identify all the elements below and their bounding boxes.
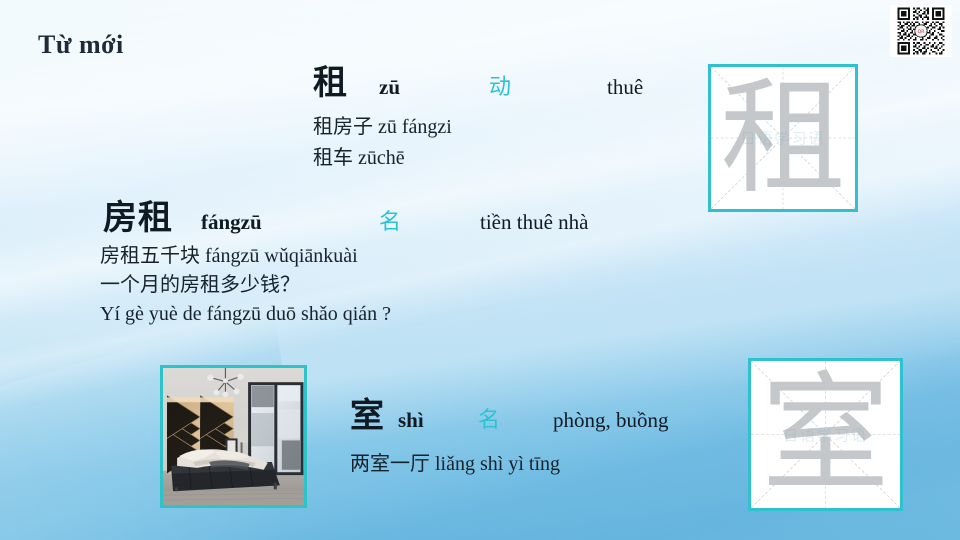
character-practice-grid-zu: 租 日语学习语: [708, 64, 858, 212]
gloss-zu: thuê: [607, 75, 643, 100]
examples-zu: 租房子 zū fángzi 租车 zūchē: [313, 112, 452, 174]
slide-canvas: Từ mới: [0, 0, 960, 540]
headword-pinyin-shi: shì: [398, 408, 478, 433]
examples-fangzu: 房租五千块 fángzū wǔqiānkuài 一个月的房租多少钱？ Yí gè…: [100, 242, 391, 329]
headword-hanzi-fangzu: 房租: [103, 190, 201, 239]
example-line: 一个月的房租多少钱？: [100, 271, 391, 300]
example-line: 租房子 zū fángzi: [313, 112, 452, 143]
grid-watermark: 日语学习语: [751, 424, 900, 445]
page-title: Từ mới: [38, 30, 124, 60]
headword-pinyin-zu: zū: [379, 75, 489, 100]
headword-hanzi-zu: 租: [313, 55, 379, 104]
part-of-speech-zu: 动: [489, 69, 607, 101]
vocab-entry-zu: 租 zū 动 thuê: [313, 55, 643, 104]
character-practice-grid-shi: 室 日语学习语: [748, 358, 903, 511]
examples-shi: 两室一厅 liǎng shì yì tīng: [350, 447, 560, 476]
gloss-shi: phòng, buồng: [553, 408, 669, 433]
part-of-speech-fangzu: 名: [379, 204, 480, 236]
part-of-speech-shi: 名: [478, 402, 553, 434]
bedroom-photo: [160, 365, 307, 508]
qr-code-icon[interactable]: QR: [890, 5, 952, 57]
example-line: Yí gè yuè de fángzū duō shǎo qián ?: [100, 300, 391, 329]
headword-hanzi-shi: 室: [350, 388, 398, 437]
vocab-entry-fangzu: 房租 fángzū 名 tiền thuê nhà: [103, 190, 588, 239]
example-line: 两室一厅 liǎng shì yì tīng: [350, 447, 560, 476]
example-line: 租车 zūchē: [313, 143, 452, 174]
vocab-entry-shi: 室 shì 名 phòng, buồng: [350, 388, 669, 437]
grid-watermark: 日语学习语: [711, 128, 855, 149]
gloss-fangzu: tiền thuê nhà: [480, 210, 588, 235]
headword-pinyin-fangzu: fángzū: [201, 210, 379, 235]
svg-text:QR: QR: [918, 29, 925, 35]
example-line: 房租五千块 fángzū wǔqiānkuài: [100, 242, 391, 271]
